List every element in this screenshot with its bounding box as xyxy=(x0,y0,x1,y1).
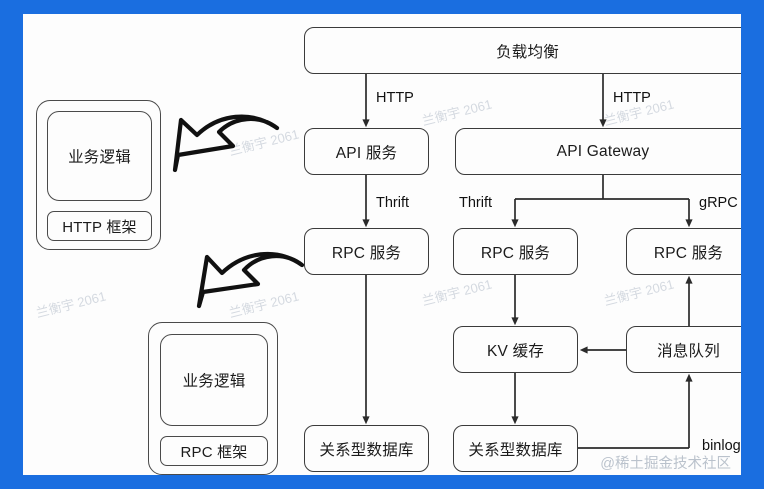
node-rdbms-2[interactable]: 关系型数据库 xyxy=(453,425,578,472)
diagram-root: 兰衡宇 2061 兰衡宇 2061 兰衡宇 2061 兰衡宇 2061 兰衡宇 … xyxy=(0,0,764,489)
rpc-framework-bar[interactable]: RPC 框架 xyxy=(160,436,268,466)
rpc-stack-panel[interactable]: 业务逻辑 RPC 框架 xyxy=(148,322,278,475)
node-rdbms-1-label: 关系型数据库 xyxy=(319,438,413,460)
brand-watermark: @稀土掘金技术社区 xyxy=(600,452,731,473)
node-kv-cache[interactable]: KV 缓存 xyxy=(453,326,578,373)
diagram-canvas: 兰衡宇 2061 兰衡宇 2061 兰衡宇 2061 兰衡宇 2061 兰衡宇 … xyxy=(23,14,741,475)
node-rpc-service-3-label: RPC 服务 xyxy=(654,241,723,263)
node-rpc-service-1[interactable]: RPC 服务 xyxy=(304,228,429,275)
node-load-balancer-label: 负载均衡 xyxy=(496,40,559,62)
node-message-queue[interactable]: 消息队列 xyxy=(626,326,741,373)
node-load-balancer[interactable]: 负载均衡 xyxy=(304,27,741,74)
node-rdbms-1[interactable]: 关系型数据库 xyxy=(304,425,429,472)
http-framework-bar[interactable]: HTTP 框架 xyxy=(47,211,152,241)
http-stack-business-logic[interactable]: 业务逻辑 xyxy=(47,111,152,201)
node-message-queue-label: 消息队列 xyxy=(657,339,720,361)
node-rpc-service-3[interactable]: RPC 服务 xyxy=(626,228,741,275)
node-rpc-service-1-label: RPC 服务 xyxy=(332,241,401,263)
edge-label-thrift-mid: Thrift xyxy=(459,195,492,211)
http-stack-panel[interactable]: 业务逻辑 HTTP 框架 xyxy=(36,100,161,250)
edge-label-thrift-left: Thrift xyxy=(376,195,409,211)
node-rdbms-2-label: 关系型数据库 xyxy=(468,438,562,460)
rpc-stack-business-logic-label: 业务逻辑 xyxy=(183,369,246,391)
edge-label-http-right: HTTP xyxy=(613,90,651,106)
http-framework-label: HTTP 框架 xyxy=(62,216,136,237)
node-rpc-service-2-label: RPC 服务 xyxy=(481,241,550,263)
node-api-gateway-label: API Gateway xyxy=(557,143,650,161)
rpc-framework-label: RPC 框架 xyxy=(180,441,247,462)
node-api-service[interactable]: API 服务 xyxy=(304,128,429,175)
node-kv-cache-label: KV 缓存 xyxy=(487,339,544,361)
node-api-service-label: API 服务 xyxy=(336,141,398,163)
edge-label-grpc: gRPC xyxy=(699,195,738,211)
edge-label-http-left: HTTP xyxy=(376,90,414,106)
node-api-gateway[interactable]: API Gateway xyxy=(455,128,741,175)
rpc-stack-business-logic[interactable]: 业务逻辑 xyxy=(160,334,268,426)
http-stack-business-logic-label: 业务逻辑 xyxy=(68,145,131,167)
node-rpc-service-2[interactable]: RPC 服务 xyxy=(453,228,578,275)
